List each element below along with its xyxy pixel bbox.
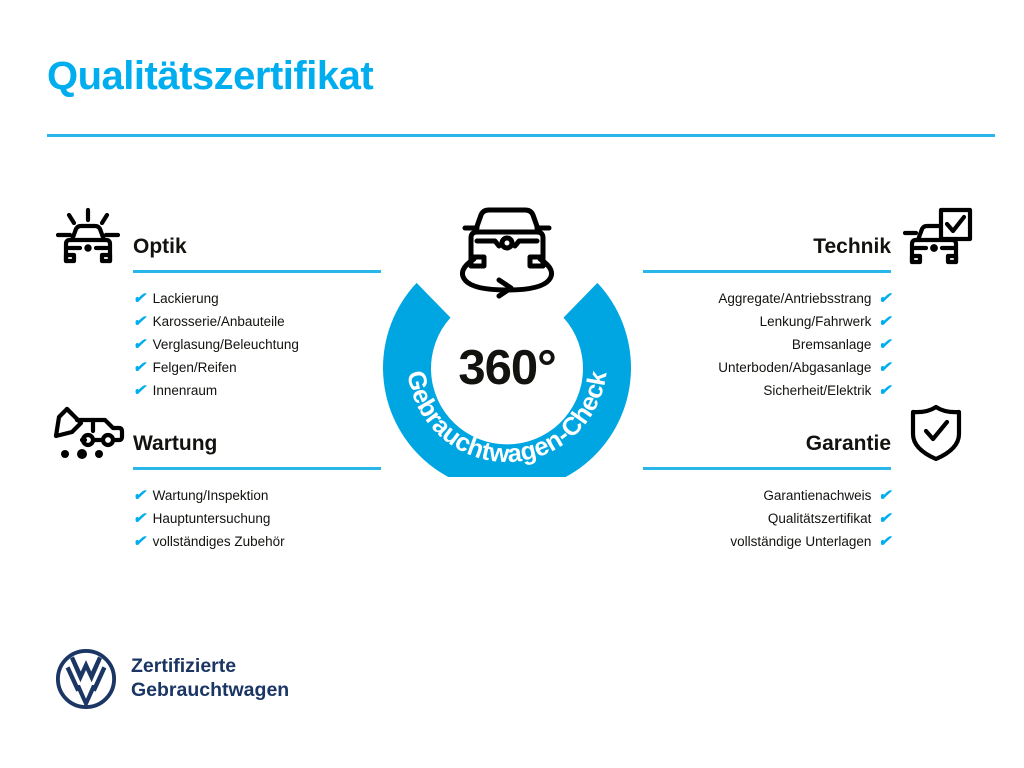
car-front-rotation-icon [443,198,571,300]
list-item: Garantienachweis ✔ [637,484,891,507]
section-optik-title: Optik [133,235,187,259]
list-item: ✔ Wartung/Inspektion [133,484,387,507]
list-item: ✔ vollständiges Zubehör [133,530,387,553]
list-item: Aggregate/Antriebsstrang ✔ [637,287,891,310]
list-item-label: Garantienachweis [763,489,871,503]
list-item: ✔ Felgen/Reifen [133,356,387,379]
garantie-list: Garantienachweis ✔ Qualitätszertifikat ✔… [637,484,891,553]
car-front-checkbox-icon [895,205,977,267]
check-icon: ✔ [878,511,891,526]
section-wartung-header: Wartung [47,402,387,470]
section-technik-divider [643,270,891,273]
badge-center-value: 360° [373,340,641,396]
list-item-label: Lackierung [153,292,219,306]
list-item: ✔ Hauptuntersuchung [133,507,387,530]
certificate-page: Qualitätszertifikat [0,0,1024,768]
optik-list: ✔ Lackierung ✔ Karosserie/Anbauteile ✔ V… [133,287,387,402]
check-icon: ✔ [878,488,891,503]
list-item-label: Sicherheit/Elektrik [763,384,871,398]
list-item: Unterboden/Abgasanlage ✔ [637,356,891,379]
check-icon: ✔ [133,511,146,526]
list-item-label: Qualitätszertifikat [768,512,872,526]
section-optik-divider [133,270,381,273]
list-item-label: Felgen/Reifen [153,361,237,375]
pen-car-service-icon [47,402,129,464]
list-item-label: Bremsanlage [792,338,872,352]
list-item: Bremsanlage ✔ [637,333,891,356]
check-icon: ✔ [878,314,891,329]
list-item: Qualitätszertifikat ✔ [637,507,891,530]
section-garantie: Garantie Garantienachweis ✔ Qualitätszer… [637,402,977,553]
check-icon: ✔ [878,337,891,352]
list-item-label: Wartung/Inspektion [153,489,269,503]
check-icon: ✔ [133,383,146,398]
section-wartung: Wartung ✔ Wartung/Inspektion ✔ Hauptunte… [47,402,387,553]
list-item-label: Unterboden/Abgasanlage [718,361,871,375]
check-icon: ✔ [878,360,891,375]
car-front-shine-icon [47,205,129,267]
section-wartung-title: Wartung [133,432,217,456]
section-optik-header: Optik [47,205,387,273]
list-item: Lenkung/Fahrwerk ✔ [637,310,891,333]
technik-list: Aggregate/Antriebsstrang ✔ Lenkung/Fahrw… [637,287,891,402]
check-icon: ✔ [133,488,146,503]
header-divider [47,134,995,137]
list-item: ✔ Verglasung/Beleuchtung [133,333,387,356]
section-garantie-divider [643,467,891,470]
list-item: vollständige Unterlagen ✔ [637,530,891,553]
check-icon: ✔ [878,291,891,306]
check-icon: ✔ [133,337,146,352]
vw-logo-line1: Zertifizierte [131,655,289,679]
list-item: ✔ Innenraum [133,379,387,402]
list-item: ✔ Lackierung [133,287,387,310]
section-technik-header: Technik [637,205,977,273]
list-item-label: Innenraum [153,384,218,398]
shield-check-icon [895,402,977,464]
section-technik: Technik Aggregate/Antriebsstrang ✔ Lenku… [637,205,977,402]
vw-certified-logo: Zertifizierte Gebrauchtwagen [55,648,289,710]
vw-logo-icon [55,648,117,710]
check-icon: ✔ [133,534,146,549]
check-icon: ✔ [878,383,891,398]
list-item: ✔ Karosserie/Anbauteile [133,310,387,333]
list-item-label: vollständige Unterlagen [730,535,871,549]
check-icon: ✔ [133,360,146,375]
section-garantie-header: Garantie [637,402,977,470]
list-item-label: Hauptuntersuchung [153,512,271,526]
page-title: Qualitätszertifikat [47,54,373,98]
vw-logo-line2: Gebrauchtwagen [131,679,289,703]
list-item-label: Lenkung/Fahrwerk [760,315,872,329]
check-icon: ✔ [133,291,146,306]
check-icon: ✔ [878,534,891,549]
list-item-label: Verglasung/Beleuchtung [153,338,299,352]
section-technik-title: Technik [813,235,891,259]
list-item-label: vollständiges Zubehör [153,535,285,549]
vw-logo-text: Zertifizierte Gebrauchtwagen [131,655,289,703]
section-garantie-title: Garantie [806,432,891,456]
list-item-label: Karosserie/Anbauteile [153,315,285,329]
check-icon: ✔ [133,314,146,329]
wartung-list: ✔ Wartung/Inspektion ✔ Hauptuntersuchung… [133,484,387,553]
section-wartung-divider [133,467,381,470]
section-optik: Optik ✔ Lackierung ✔ Karosserie/Anbautei… [47,205,387,402]
list-item-label: Aggregate/Antriebsstrang [718,292,871,306]
list-item: Sicherheit/Elektrik ✔ [637,379,891,402]
